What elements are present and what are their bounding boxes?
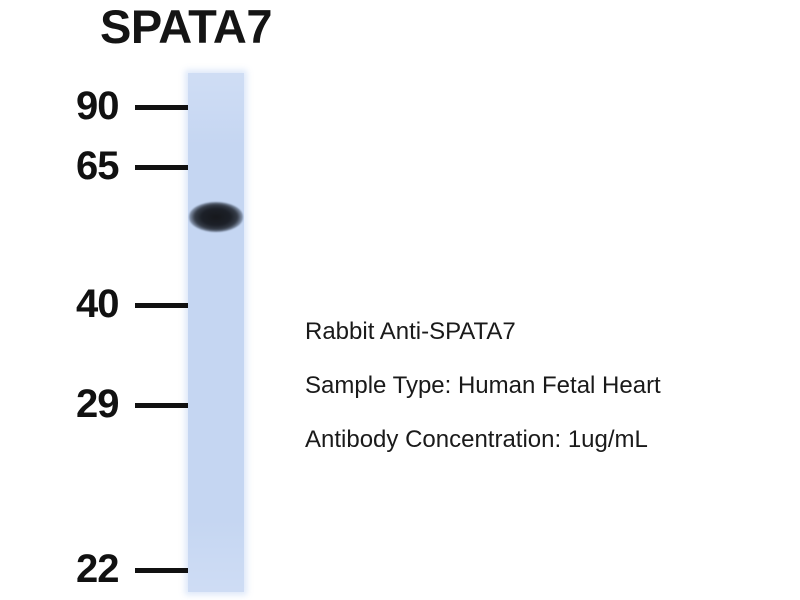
marker-label: 29	[76, 384, 134, 424]
western-blot-figure: SPATA7 90 65 40 29 22 Rabbit Anti-SPATA7…	[0, 0, 800, 600]
marker-label: 65	[76, 146, 134, 186]
marker-tick-icon	[135, 105, 188, 110]
marker-tick-icon	[135, 165, 188, 170]
protein-band	[189, 202, 243, 232]
marker-label: 22	[76, 549, 134, 589]
gel-lane	[188, 73, 244, 592]
annotation-sample-type: Sample Type: Human Fetal Heart	[305, 372, 735, 400]
marker-tick-icon	[135, 568, 188, 573]
marker-tick-icon	[135, 303, 188, 308]
annotation-concentration: Antibody Concentration: 1ug/mL	[305, 426, 735, 454]
annotation-block: Rabbit Anti-SPATA7 Sample Type: Human Fe…	[305, 318, 735, 453]
annotation-antibody: Rabbit Anti-SPATA7	[305, 318, 735, 346]
marker-label: 90	[76, 86, 134, 126]
marker-label: 40	[76, 284, 134, 324]
marker-tick-icon	[135, 403, 188, 408]
page-title: SPATA7	[100, 2, 272, 51]
